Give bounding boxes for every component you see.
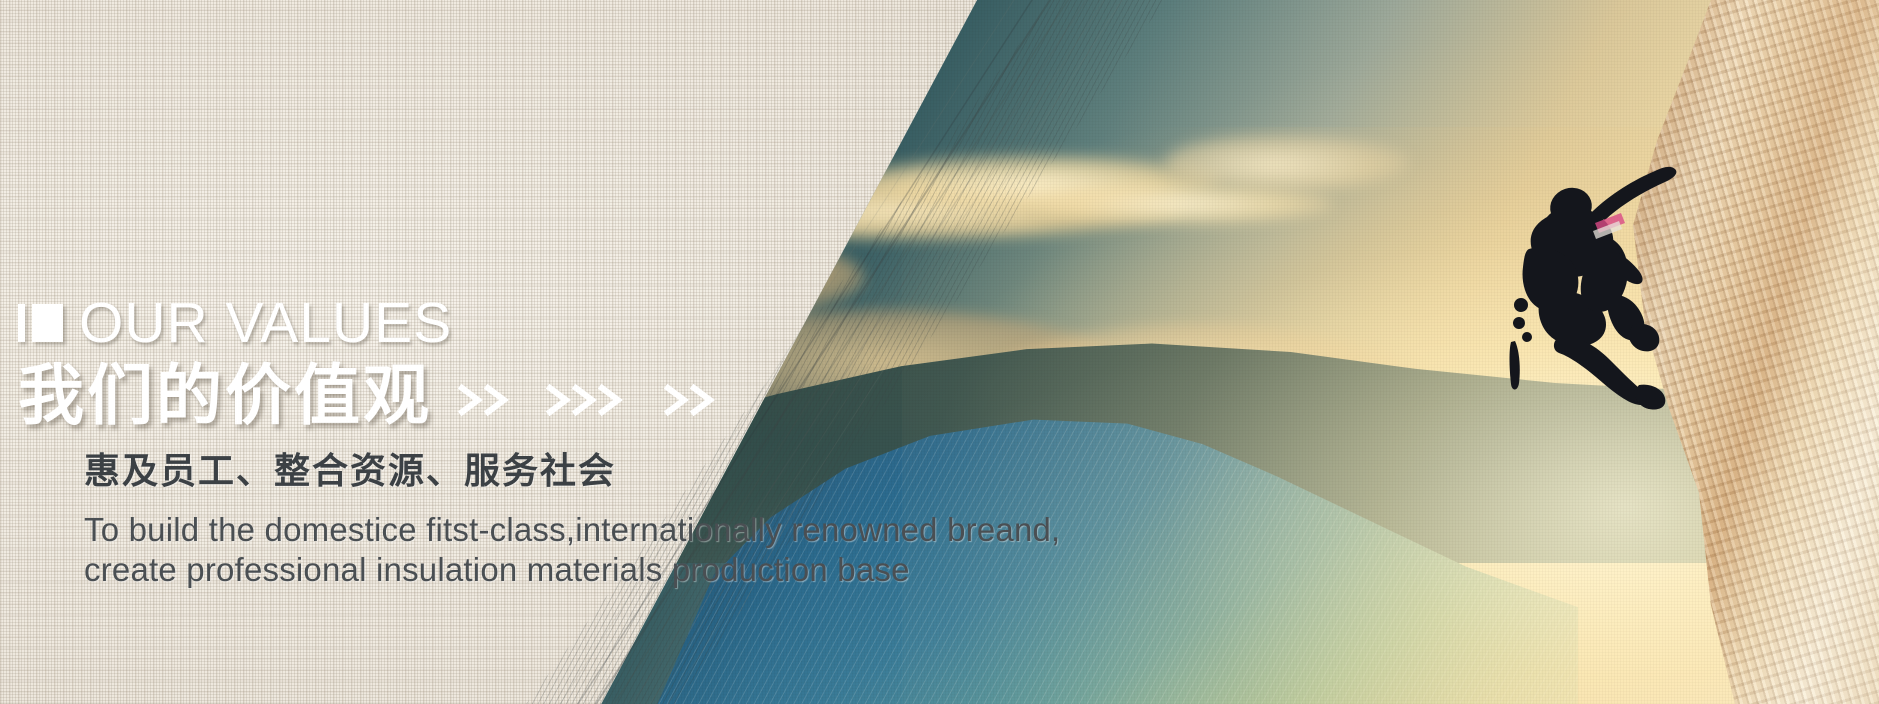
tagline-en: To build the domestice fitst-class,inter… bbox=[84, 510, 1198, 590]
subtitle-cn: 惠及员工、整合资源、服务社会 bbox=[84, 450, 1198, 492]
tagline-line-2: create professional insulation materials… bbox=[84, 550, 1198, 590]
rock-climber-silhouette bbox=[1499, 145, 1729, 410]
heading-en-row: OUR VALUES bbox=[18, 296, 1198, 350]
chevron-double-trailing-icon bbox=[662, 382, 728, 418]
chevron-double-icon bbox=[456, 382, 522, 418]
banner-copy-block: OUR VALUES 我们的价值观 bbox=[18, 296, 1198, 590]
chevron-triple-icon bbox=[544, 382, 640, 418]
tagline-line-1: To build the domestice fitst-class,inter… bbox=[84, 510, 1198, 550]
mark-bar-icon bbox=[18, 304, 25, 342]
decoration-mark-icon bbox=[18, 304, 63, 342]
our-values-banner: OUR VALUES 我们的价值观 bbox=[0, 0, 1879, 704]
mark-square-icon bbox=[32, 304, 63, 342]
heading-cn-row: 我们的价值观 bbox=[18, 356, 1198, 430]
heading-cn: 我们的价值观 bbox=[18, 360, 432, 430]
chevron-arrows-group bbox=[456, 382, 728, 430]
heading-en: OUR VALUES bbox=[79, 296, 452, 350]
